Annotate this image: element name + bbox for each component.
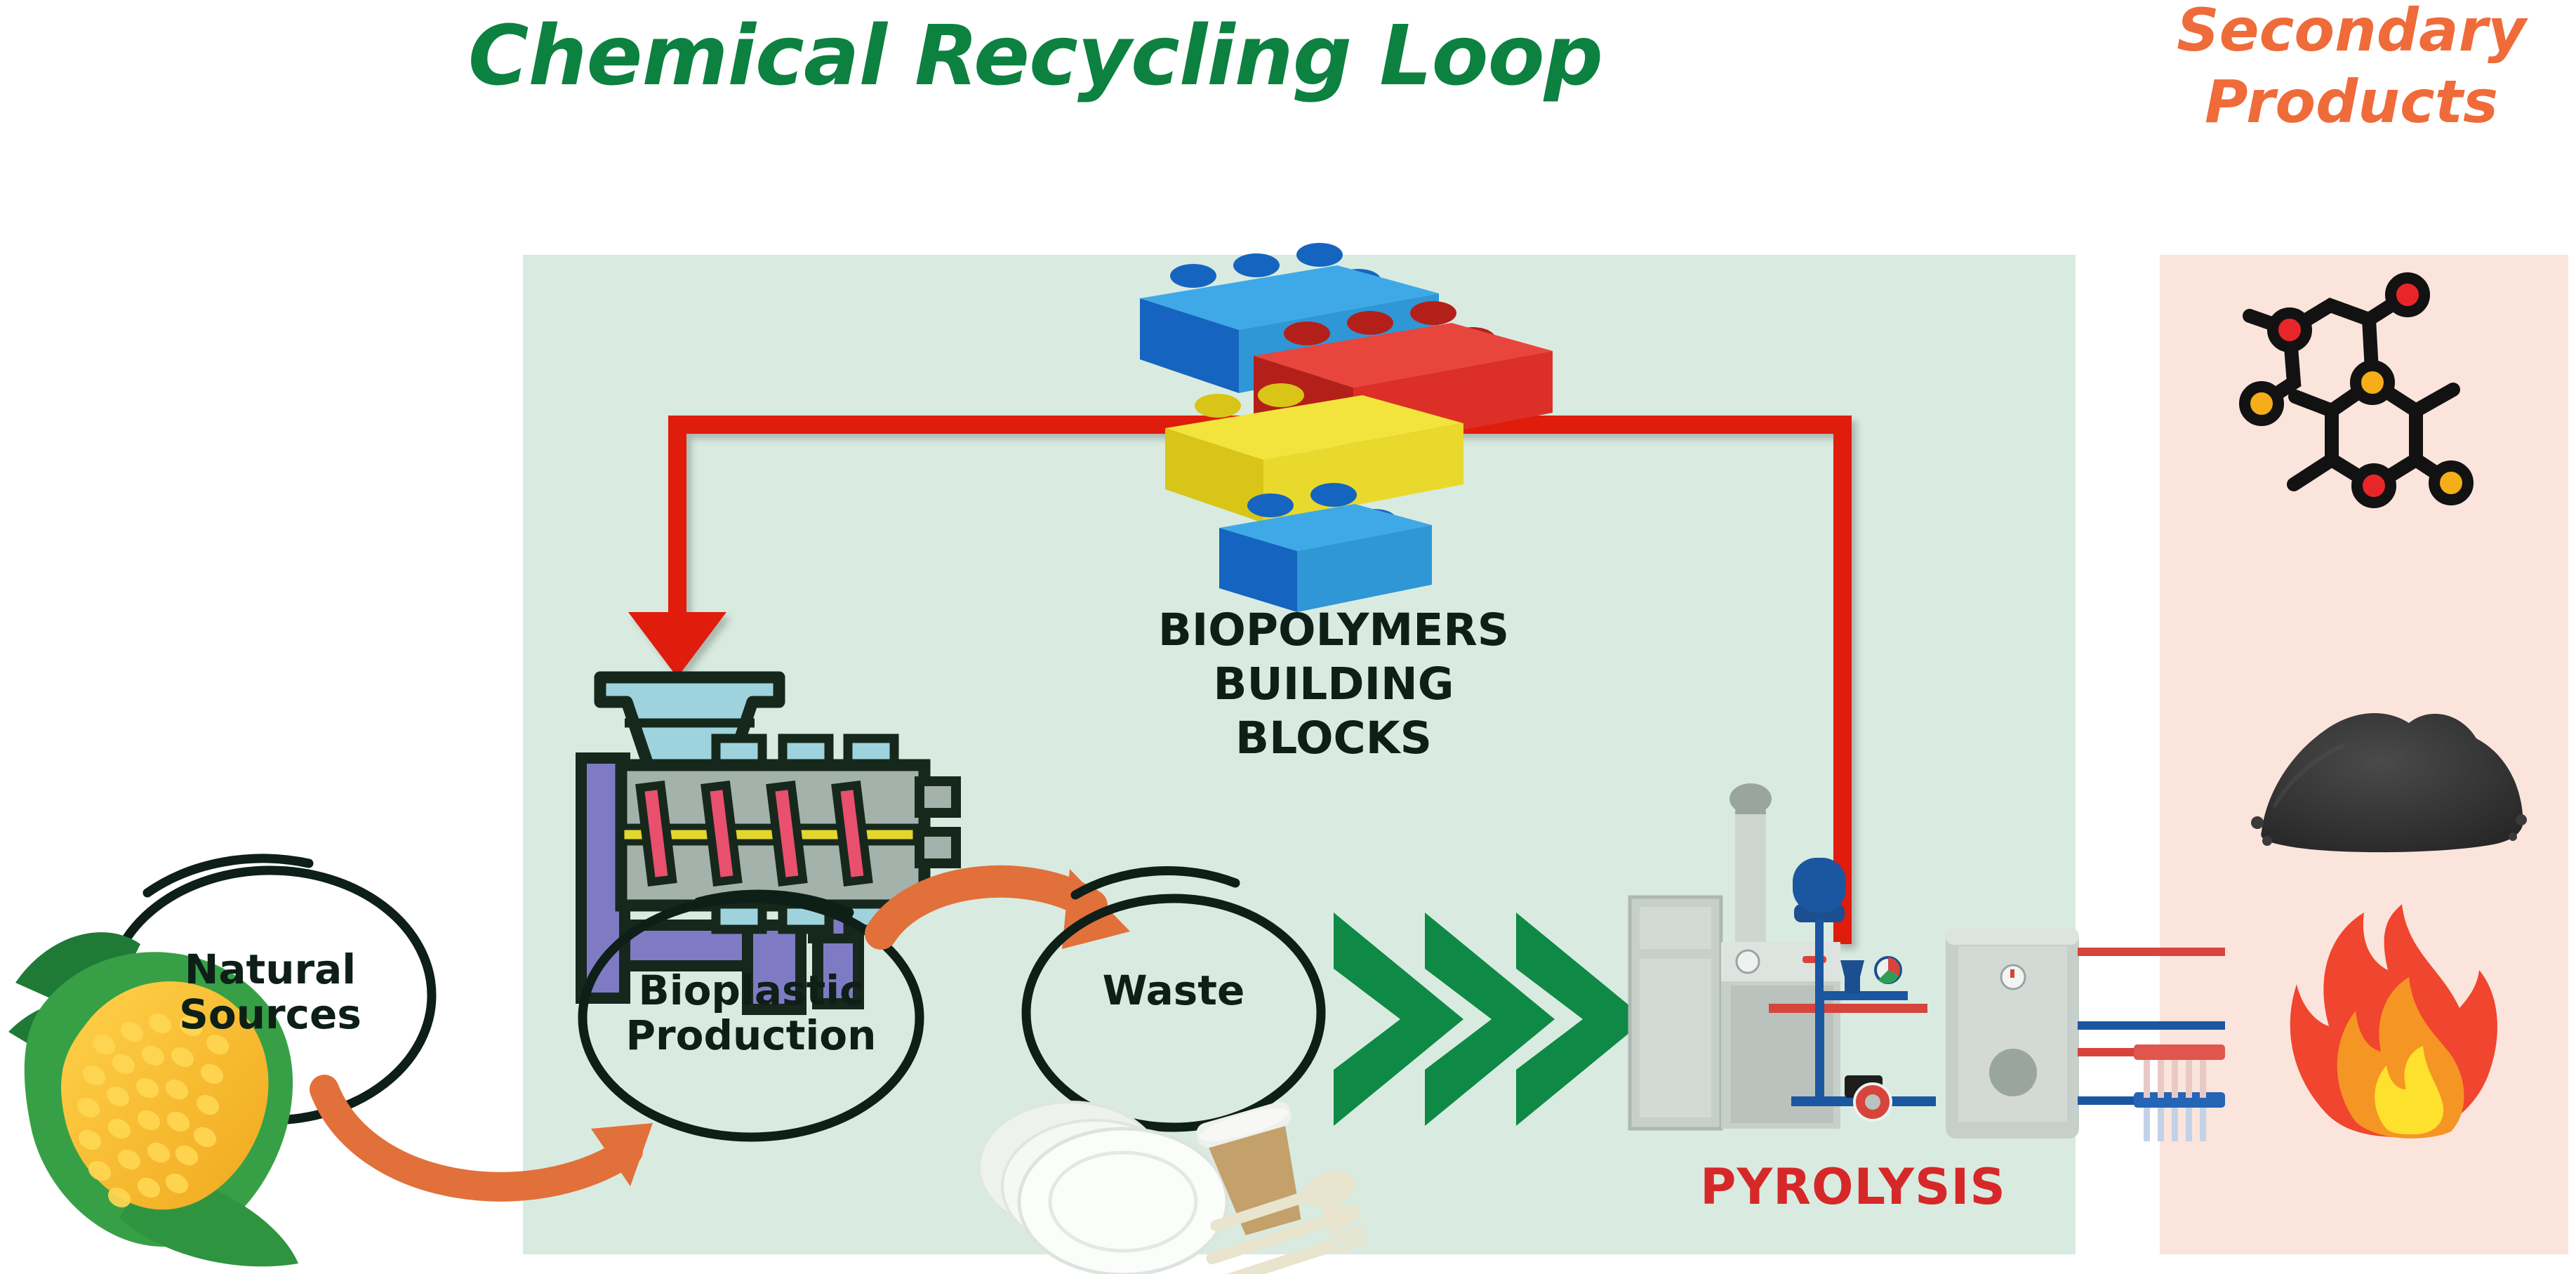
syngas-label: SYNGAS [2160, 1155, 2576, 1190]
bioplastic-production-label-line1: Bioplastic [590, 969, 912, 1014]
valuable-chemicals-label-line1: VALUABLE [2160, 490, 2576, 526]
pyrolysis-boiler-icon [1630, 783, 2225, 1141]
natural-sources-label-line2: Sources [109, 993, 432, 1037]
bioplastic-production-label: Bioplastic Production [590, 969, 912, 1059]
biopolymers-label-line1: BIOPOLYMERS [1032, 604, 1635, 658]
waste-label: Waste [1012, 969, 1335, 1014]
valuable-chemicals-label-line3: THE INDUSTRY [2160, 561, 2576, 597]
natural-sources-label-line1: Natural [109, 948, 432, 993]
flame-icon [2290, 904, 2497, 1139]
molecule-icon [2245, 278, 2468, 503]
biopolymers-label-line2: BUILDING [1032, 658, 1635, 712]
green-chevrons [1334, 913, 1646, 1126]
valuable-chemicals-label: VALUABLE CHEMICALS FOR THE INDUSTRY [2160, 490, 2576, 597]
bioplastic-production-label-line2: Production [590, 1014, 912, 1059]
biochar-label: BIOCHAR [2160, 842, 2576, 878]
biopolymers-label-line3: BLOCKS [1032, 712, 1635, 766]
pyrolysis-label: PYROLYSIS [1607, 1158, 2099, 1216]
natural-sources-label: Natural Sources [109, 948, 432, 1037]
biopolymers-building-blocks-label: BIOPOLYMERS BUILDING BLOCKS [1032, 604, 1635, 766]
valuable-chemicals-label-line2: CHEMICALS FOR [2160, 526, 2576, 562]
charcoal-powder-icon [2251, 713, 2527, 852]
corn-to-bioplastic-arrow [324, 1089, 653, 1187]
